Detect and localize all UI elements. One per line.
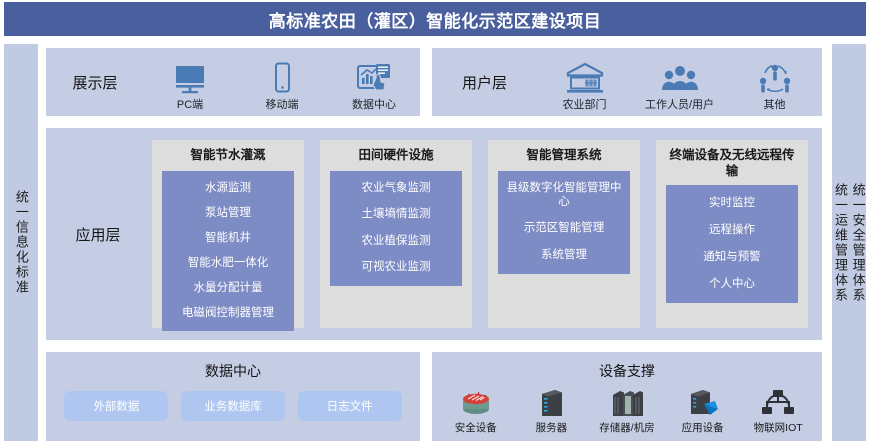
data-center-title: 数据中心 [46,352,420,381]
app-card-item[interactable]: 电磁阀控制器管理 [182,307,274,321]
device-item-storage[interactable]: 存储器/机房 [590,385,664,435]
data-center-band: 数据中心 外部数据 业务数据库 日志文件 [46,352,420,441]
app-card-title: 智能节水灌溉 [190,148,265,165]
server-tower-icon [535,385,567,419]
government-building-icon [565,60,605,94]
iot-network-icon [760,385,796,419]
app-card-item[interactable]: 示范区智能管理 [524,222,605,236]
app-card-title: 智能管理系统 [526,148,601,165]
app-card-item[interactable]: 远程操作 [709,224,755,238]
right-rail-management: 统一安全管理体系 统一运维管理体系 [832,44,866,441]
device-item-security-label: 安全设备 [455,420,497,435]
device-support-band: 设备支撑 安全设备 [432,352,822,441]
application-layer-band: 应用层 智能节水灌溉 水源监测 泵站管理 智能机井 智能水肥一体化 水量分配计量… [46,128,822,340]
user-item-other-label: 其他 [764,96,786,112]
left-rail-standards: 统一信息化标准 [4,44,38,441]
app-card-terminal-devices[interactable]: 终端设备及无线远程传输 实时监控 远程操作 通知与预警 个人中心 [656,140,808,328]
page-title-bar: 高标准农田（灌区）智能化示范区建设项目 [4,2,866,36]
app-card-item[interactable]: 个人中心 [709,278,755,292]
device-item-security[interactable]: 安全设备 [439,385,513,435]
user-item-staff-label: 工作人员/用户 [645,96,714,112]
app-card-item[interactable]: 土壤墒情监测 [362,208,431,222]
app-card-item[interactable]: 水量分配计量 [194,282,263,296]
data-center-item-external[interactable]: 外部数据 [64,391,168,421]
user-item-other[interactable]: 其他 [729,60,821,112]
app-card-item[interactable]: 县级数字化智能管理中心 [505,182,623,210]
mobile-phone-icon [265,60,299,94]
device-item-storage-label: 存储器/机房 [599,420,654,435]
user-item-staff[interactable]: 工作人员/用户 [634,60,726,112]
tablet-chart-icon [356,60,392,94]
app-card-item[interactable]: 系统管理 [541,249,587,263]
device-item-application[interactable]: 应用设备 [666,385,740,435]
data-center-item-log-file[interactable]: 日志文件 [298,391,402,421]
app-card-item[interactable]: 农业气象监测 [362,182,431,196]
people-cycle-icon [756,60,794,94]
display-item-pc[interactable]: PC端 [144,60,236,112]
display-layer-band: 展示层 PC端 移动端 [46,48,420,116]
application-server-icon [685,385,721,419]
app-card-item[interactable]: 泵站管理 [205,207,251,221]
display-item-data-center[interactable]: 数据中心 [328,60,420,112]
people-group-icon [660,60,700,94]
app-card-item[interactable]: 水源监测 [205,182,251,196]
application-layer-label: 应用层 [46,224,150,245]
left-rail-label: 统一信息化标准 [14,190,28,295]
app-card-item[interactable]: 农业植保监测 [362,235,431,249]
display-item-mobile[interactable]: 移动端 [236,60,328,112]
app-card-field-hardware[interactable]: 田间硬件设施 农业气象监测 土壤墒情监测 农业植保监测 可视农业监测 [320,140,472,328]
app-card-title: 终端设备及无线远程传输 [666,148,798,179]
right-rail-security-label: 统一安全管理体系 [851,183,865,303]
app-card-item[interactable]: 通知与预警 [703,251,761,265]
user-item-agriculture-dept[interactable]: 农业部门 [539,60,631,112]
display-item-data-center-label: 数据中心 [352,96,396,112]
app-card-item[interactable]: 可视农业监测 [362,261,431,275]
right-rail-operations-label: 统一运维管理体系 [833,183,847,303]
device-item-application-label: 应用设备 [682,420,724,435]
router-security-icon [458,385,494,419]
user-item-agriculture-dept-label: 农业部门 [563,96,607,112]
display-item-pc-label: PC端 [177,96,203,112]
user-layer-band: 用户层 农业部门 [432,48,822,116]
device-item-iot-label: 物联网IOT [754,420,803,435]
device-support-title: 设备支撑 [432,352,822,381]
data-center-item-business-db[interactable]: 业务数据库 [181,391,285,421]
display-layer-label: 展示层 [46,72,144,93]
user-layer-label: 用户层 [432,72,537,93]
app-card-item[interactable]: 智能水肥一体化 [188,257,269,271]
device-item-server[interactable]: 服务器 [514,385,588,435]
app-card-item[interactable]: 实时监控 [709,197,755,211]
page-title: 高标准农田（灌区）智能化示范区建设项目 [269,7,602,32]
app-card-management-system[interactable]: 智能管理系统 县级数字化智能管理中心 示范区智能管理 系统管理 [488,140,640,328]
device-item-server-label: 服务器 [536,420,568,435]
device-item-iot[interactable]: 物联网IOT [741,385,815,435]
architecture-diagram: 高标准农田（灌区）智能化示范区建设项目 统一信息化标准 统一安全管理体系 统一运… [0,0,870,445]
app-card-title: 田间硬件设施 [358,148,433,165]
storage-rack-icon [608,385,646,419]
monitor-icon [173,60,207,94]
app-card-smart-irrigation[interactable]: 智能节水灌溉 水源监测 泵站管理 智能机井 智能水肥一体化 水量分配计量 电磁阀… [152,140,304,328]
app-card-item[interactable]: 智能机井 [205,232,251,246]
display-item-mobile-label: 移动端 [266,96,299,112]
